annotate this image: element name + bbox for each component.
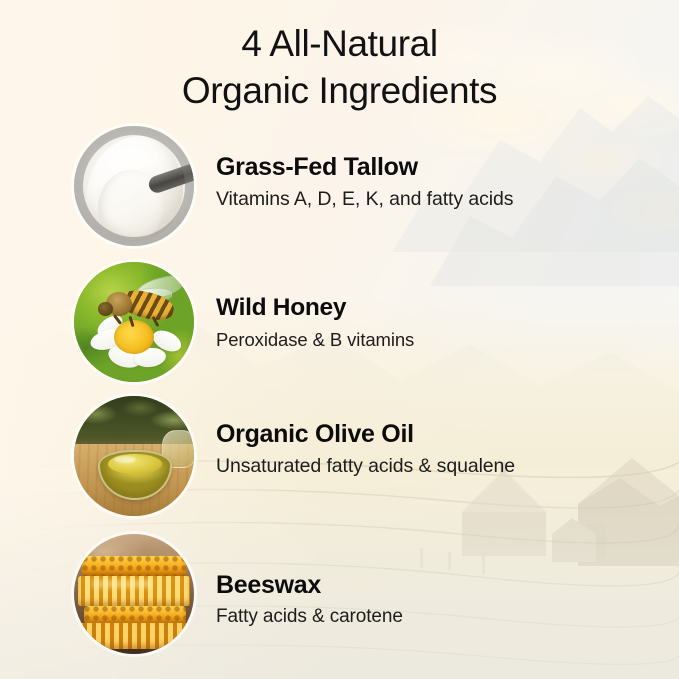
ingredients-infographic: 4 All-Natural Organic Ingredients Grass-…	[0, 0, 679, 679]
ingredient-text: Wild Honey Peroxidase & B vitamins	[216, 293, 666, 353]
honeycomb-photo	[74, 534, 194, 654]
olive-oil-bowl-photo	[74, 396, 194, 516]
ingredient-description: Fatty acids & carotene	[216, 604, 666, 630]
bee-on-flower-photo	[74, 262, 194, 382]
ingredient-name: Beeswax	[216, 570, 666, 600]
ingredient-name: Organic Olive Oil	[216, 419, 666, 449]
ingredient-name: Grass-Fed Tallow	[216, 152, 666, 182]
ingredient-description: Peroxidase & B vitamins	[216, 327, 666, 353]
ingredient-name: Wild Honey	[216, 293, 666, 323]
ingredient-text: Grass-Fed Tallow Vitamins A, D, E, K, an…	[216, 152, 666, 212]
ingredient-list: Grass-Fed Tallow Vitamins A, D, E, K, an…	[0, 0, 679, 679]
ingredient-text: Organic Olive Oil Unsaturated fatty acid…	[216, 419, 666, 479]
ingredient-description: Vitamins A, D, E, K, and fatty acids	[216, 186, 666, 212]
ingredient-text: Beeswax Fatty acids & carotene	[216, 570, 666, 630]
tallow-photo	[74, 126, 194, 246]
ingredient-description: Unsaturated fatty acids & squalene	[216, 453, 666, 479]
